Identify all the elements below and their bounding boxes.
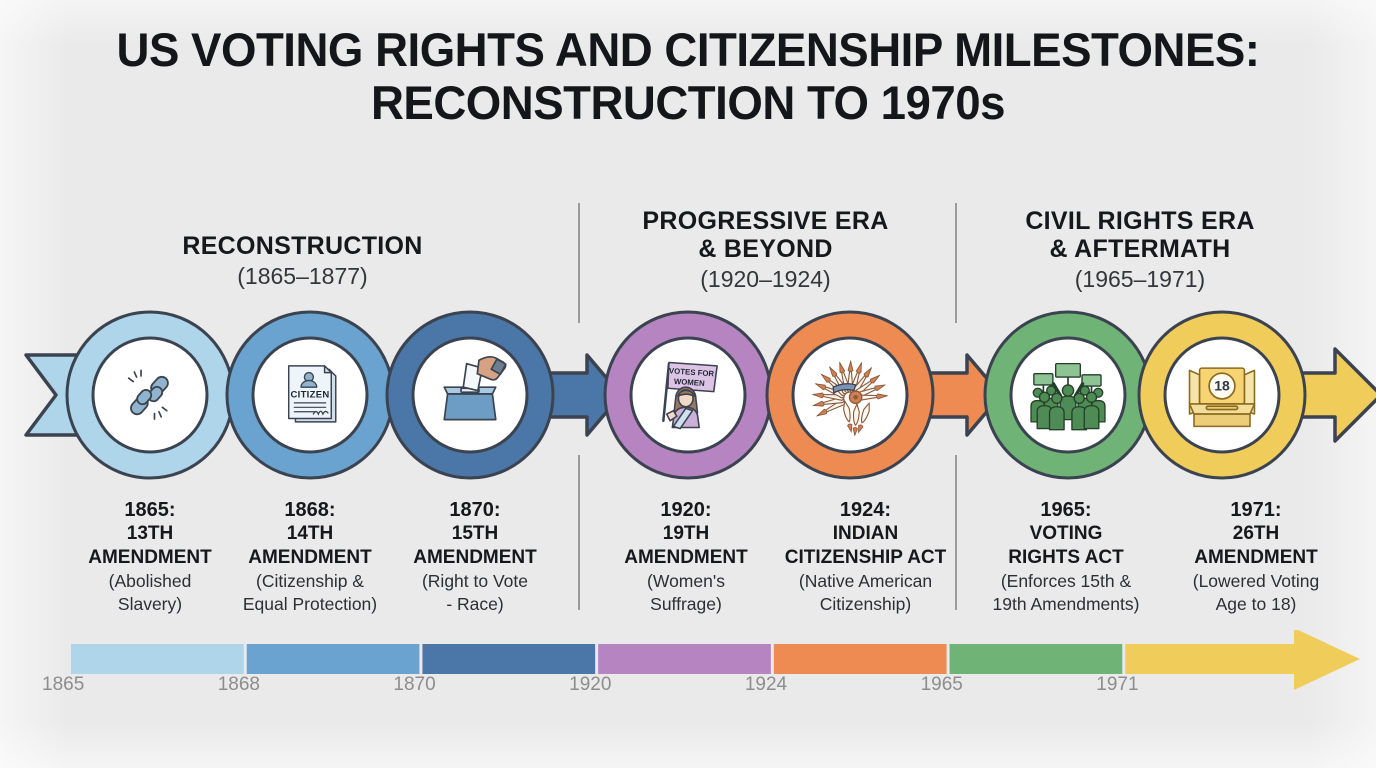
era-name-line-2: & BEYOND <box>593 235 938 263</box>
citizenship-document-icon: CITIZEN <box>289 366 336 422</box>
caption-year: 1924: <box>748 498 983 522</box>
milestone-node-1868[interactable]: CITIZEN <box>227 312 393 478</box>
milestone-caption-1924: 1924: INDIAN CITIZENSHIP ACT (Native Ame… <box>748 498 983 615</box>
progress-segment-4 <box>774 644 947 674</box>
tick-label-1924: 1924 <box>745 674 787 696</box>
caption-title-line-1: 15TH <box>367 522 583 545</box>
tick-label-1965: 1965 <box>921 674 963 696</box>
caption-year: 1870: <box>367 498 583 522</box>
tick-label-1870: 1870 <box>393 674 435 696</box>
caption-title-line-2: AMENDMENT <box>1148 546 1364 569</box>
milestone-node-1924[interactable] <box>767 312 933 478</box>
progress-segment-0 <box>71 644 244 674</box>
caption-title-line-1: VOTING <box>958 522 1174 545</box>
tick-label-1868: 1868 <box>218 674 260 696</box>
caption-title-line-1: 26TH <box>1148 522 1364 545</box>
caption-title-line-2: RIGHTS ACT <box>958 546 1174 569</box>
caption-note-line-2: Citizenship) <box>748 594 983 615</box>
progress-segment-5 <box>950 644 1123 674</box>
milestone-node-1865[interactable] <box>67 312 233 478</box>
tick-label-1971: 1971 <box>1096 674 1138 696</box>
caption-note-line-1: (Right to Vote <box>367 571 583 592</box>
progress-segment-6 <box>1125 630 1360 690</box>
era-header-progressive: PROGRESSIVE ERA & BEYOND (1920–1924) <box>593 207 938 294</box>
title-line-1: US VOTING RIGHTS AND CITIZENSHIP MILESTO… <box>21 26 1356 74</box>
caption-title-line-2: CITIZENSHIP ACT <box>748 546 983 569</box>
era-name-line-2: & AFTERMATH <box>970 235 1310 263</box>
milestone-node-1920[interactable]: VOTES FORWOMEN <box>605 312 771 478</box>
era-years: (1865–1877) <box>110 263 495 291</box>
era-years: (1920–1924) <box>593 266 938 294</box>
timeline-progress-bar <box>0 630 1376 750</box>
caption-note-line-2: 19th Amendments) <box>958 594 1174 615</box>
progress-segment-2 <box>422 644 595 674</box>
era-name-line-1: PROGRESSIVE ERA <box>593 207 938 235</box>
svg-text:18: 18 <box>1214 378 1230 394</box>
caption-year: 1971: <box>1148 498 1364 522</box>
caption-note-line-2: Age to 18) <box>1148 594 1364 615</box>
caption-note-line-1: (Enforces 15th & <box>958 571 1174 592</box>
caption-title-line-2: AMENDMENT <box>367 546 583 569</box>
milestone-node-1971[interactable]: 18 <box>1139 312 1305 478</box>
infographic-poster: US VOTING RIGHTS AND CITIZENSHIP MILESTO… <box>0 0 1376 768</box>
progress-segment-1 <box>247 644 420 674</box>
caption-note-line-1: (Native American <box>748 571 983 592</box>
milestone-node-1870[interactable] <box>387 312 553 478</box>
tick-label-1865: 1865 <box>42 674 84 696</box>
milestone-flow-band: CITIZENVOTES FORWOMEN18 <box>0 300 1376 490</box>
progress-segment-3 <box>598 644 771 674</box>
era-header-civil-rights: CIVIL RIGHTS ERA & AFTERMATH (1965–1971) <box>970 207 1310 294</box>
milestone-node-1965[interactable] <box>985 312 1151 478</box>
title-line-2: RECONSTRUCTION TO 1970s <box>21 79 1356 127</box>
milestone-caption-1971: 1971: 26TH AMENDMENT (Lowered Voting Age… <box>1148 498 1364 615</box>
era-name-line-1: CIVIL RIGHTS ERA <box>970 207 1310 235</box>
milestone-caption-1965: 1965: VOTING RIGHTS ACT (Enforces 15th &… <box>958 498 1174 615</box>
era-header-reconstruction: RECONSTRUCTION (1865–1877) <box>110 232 495 291</box>
voting-booth-age-18-icon: 18 <box>1190 368 1255 426</box>
caption-year: 1965: <box>958 498 1174 522</box>
caption-title-line-1: INDIAN <box>748 522 983 545</box>
era-name: RECONSTRUCTION <box>110 232 495 260</box>
page-title: US VOTING RIGHTS AND CITIZENSHIP MILESTO… <box>0 26 1376 127</box>
svg-text:CITIZEN: CITIZEN <box>291 389 330 400</box>
era-years: (1965–1971) <box>970 266 1310 294</box>
tick-label-1920: 1920 <box>569 674 611 696</box>
caption-note-line-1: (Lowered Voting <box>1148 571 1364 592</box>
caption-note-line-2: - Race) <box>367 594 583 615</box>
milestone-caption-1870: 1870: 15TH AMENDMENT (Right to Vote - Ra… <box>367 498 583 615</box>
